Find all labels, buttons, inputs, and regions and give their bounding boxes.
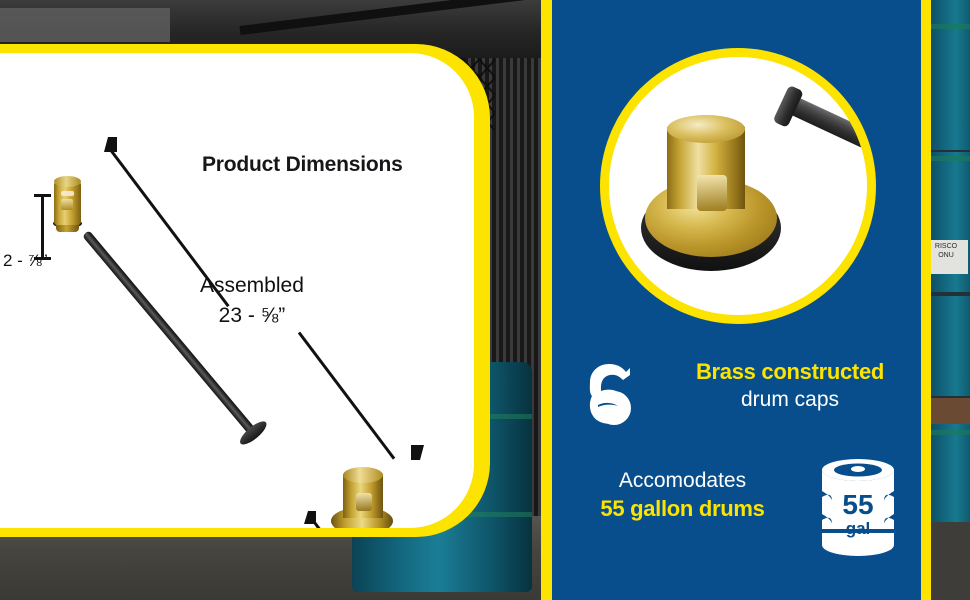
features-panel: Brass constructed drum caps Accomodates … [552, 0, 921, 600]
feature-drum-headline: Accomodates [570, 467, 795, 495]
stacked-drum [930, 424, 970, 522]
feature-brass-text: Brass constructed drum caps [670, 358, 910, 414]
assembled-arrowhead-lower [411, 445, 424, 460]
cap-notch [61, 199, 73, 210]
warehouse-background-photo-right: RISCOONU [930, 0, 970, 600]
assembled-arrow-line-lower [298, 332, 395, 460]
assembled-label: Assembled [200, 271, 304, 301]
large-brass-cap-image [331, 467, 393, 528]
infographic-canvas: RISCOONU Product Dimensions 2 - ⅞” [0, 0, 970, 600]
cap-top [667, 115, 745, 143]
assembled-dimension-block: Assembled 23 - ⅝” [200, 271, 304, 331]
stacked-drum [930, 296, 970, 396]
flexed-bicep-icon [578, 358, 648, 428]
feature-brass-constructed: Brass constructed drum caps [570, 352, 910, 436]
feature-drum-text: Accomodates 55 gallon drums [570, 467, 795, 523]
cap-height-dimension-label: 2 - ⅞” [3, 251, 47, 271]
dimensions-card: Product Dimensions 2 - ⅞” Assembled 23 [0, 53, 474, 528]
drum-band [930, 430, 970, 435]
feature-brass-headline: Brass constructed [670, 358, 910, 386]
wooden-pallet [930, 398, 970, 424]
cap-top [54, 176, 81, 187]
assembled-arrowhead-upper [104, 137, 117, 152]
concrete-floor [930, 522, 970, 600]
stacked-drum [930, 0, 970, 150]
product-photo-circle [600, 48, 876, 324]
dimension-line [41, 195, 44, 259]
diameter-arrowhead-upper [304, 511, 316, 524]
assembled-dimension-value: 23 - ⅝” [200, 301, 304, 331]
drum-capacity-unit: gal [812, 519, 904, 539]
cap-notch [697, 175, 727, 211]
ceiling-light [0, 8, 170, 42]
panel-divider-left [541, 0, 552, 600]
drum-label: RISCOONU [930, 240, 968, 274]
long-rod-image [82, 230, 257, 436]
page-title: Product Dimensions [202, 153, 403, 177]
feature-drum-capacity: Accomodates 55 gallon drums 55 gal [570, 455, 910, 565]
feature-drum-subline: 55 gallon drums [570, 495, 795, 523]
label-text: RISCOONU [930, 242, 968, 260]
oil-drum-icon: 55 gal [812, 457, 904, 557]
feature-brass-subline: drum caps [670, 386, 910, 414]
small-brass-cap-image [52, 173, 84, 235]
cap-diameter-dimension-label: 3” [313, 527, 330, 528]
panel-divider-right [921, 0, 931, 600]
rod-foot [237, 418, 270, 448]
cap-slot [61, 191, 74, 196]
drum-band [930, 156, 970, 161]
cap-top [343, 467, 383, 483]
drum-band [930, 24, 970, 29]
cap-notch [356, 493, 372, 511]
drum-capacity-number: 55 [812, 489, 904, 521]
